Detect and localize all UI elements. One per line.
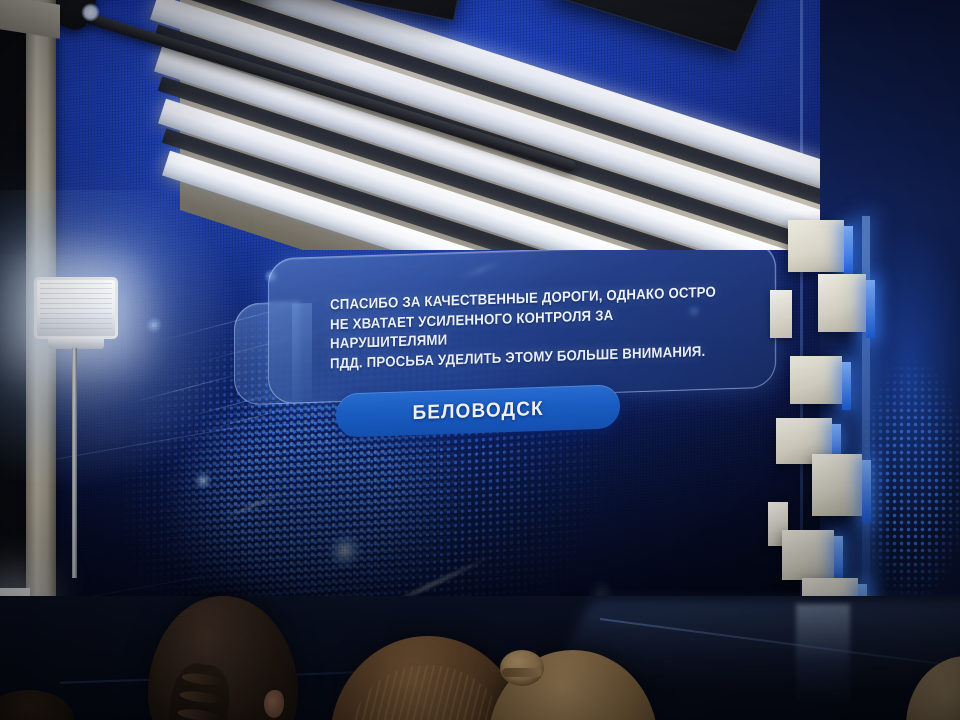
softbox-light-panel <box>34 277 118 339</box>
audience-hair-tie <box>502 668 542 677</box>
decor-panel <box>818 274 866 332</box>
bubble-message-text: СПАСИБО ЗА КАЧЕСТВЕННЫЕ ДОРОГИ, ОДНАКО О… <box>330 283 718 374</box>
city-name-pill: БЕЛОВОДСК <box>336 384 620 437</box>
studio-stage-photo: СПАСИБО ЗА КАЧЕСТВЕННЫЕ ДОРОГИ, ОДНАКО О… <box>0 0 960 720</box>
floor-reflection <box>796 604 850 708</box>
left-dark-backing <box>0 30 28 590</box>
decor-panel <box>812 454 862 516</box>
audience-ear <box>264 690 284 718</box>
city-name-label: БЕЛОВОДСК <box>412 397 543 424</box>
bubble-tab-seam <box>292 303 312 402</box>
light-stand-pole <box>72 348 77 578</box>
decor-panel <box>788 220 844 272</box>
softbox-louvers <box>40 283 112 333</box>
decor-panel <box>782 530 834 580</box>
decor-panel <box>790 356 842 404</box>
message-bubble: СПАСИБО ЗА КАЧЕСТВЕННЫЕ ДОРОГИ, ОДНАКО О… <box>268 242 776 405</box>
decor-panel-small <box>770 290 792 338</box>
